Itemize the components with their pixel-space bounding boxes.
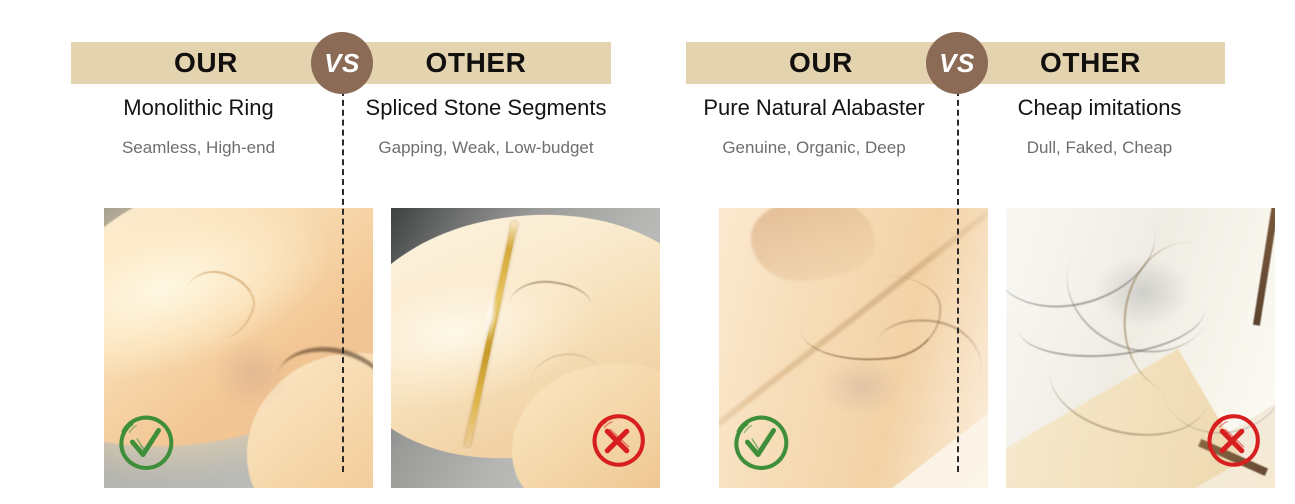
column-our-text: Pure Natural Alabaster Genuine, Organic,… [679,93,949,161]
cross-badge-icon [1201,410,1263,472]
column-divider [957,90,959,472]
monolithic-alabaster-ring-photo [104,208,373,488]
vs-badge: VS [311,32,373,94]
spliced-stone-segments-photo [391,208,660,488]
comparison-graphic: OUR VS OTHER Monolithic Ring Seamless, H… [0,0,1295,504]
cheap-imitation-marble-photo [1006,208,1275,488]
header-our-label: OUR [71,42,341,84]
column-other-title: Cheap imitations [966,93,1233,123]
column-our-desc: Genuine, Organic, Deep [679,135,949,161]
comparison-panel-material-quality: OUR VS OTHER Pure Natural Alabaster Genu… [648,0,1295,504]
column-our-text: Monolithic Ring Seamless, High-end [64,93,333,161]
comparison-panel-seam-construction: OUR VS OTHER Monolithic Ring Seamless, H… [0,0,648,504]
stone-depth-blush [821,359,902,415]
header-other-label: OTHER [341,42,611,84]
column-our-title: Pure Natural Alabaster [679,93,949,123]
column-other-desc: Dull, Faked, Cheap [966,135,1233,161]
column-other-text: Spliced Stone Segments Gapping, Weak, Lo… [351,93,621,161]
cross-badge-icon [586,410,648,472]
check-badge-icon [114,412,176,474]
header-other-label: OTHER [956,42,1225,84]
column-divider [342,90,344,472]
column-other-title: Spliced Stone Segments [351,93,621,123]
natural-alabaster-photo [719,208,988,488]
vs-badge: VS [926,32,988,94]
header-our-label: OUR [686,42,956,84]
column-our-desc: Seamless, High-end [64,135,333,161]
column-our-title: Monolithic Ring [64,93,333,123]
check-badge-icon [729,412,791,474]
column-other-text: Cheap imitations Dull, Faked, Cheap [966,93,1233,161]
column-other-desc: Gapping, Weak, Low-budget [351,135,621,161]
